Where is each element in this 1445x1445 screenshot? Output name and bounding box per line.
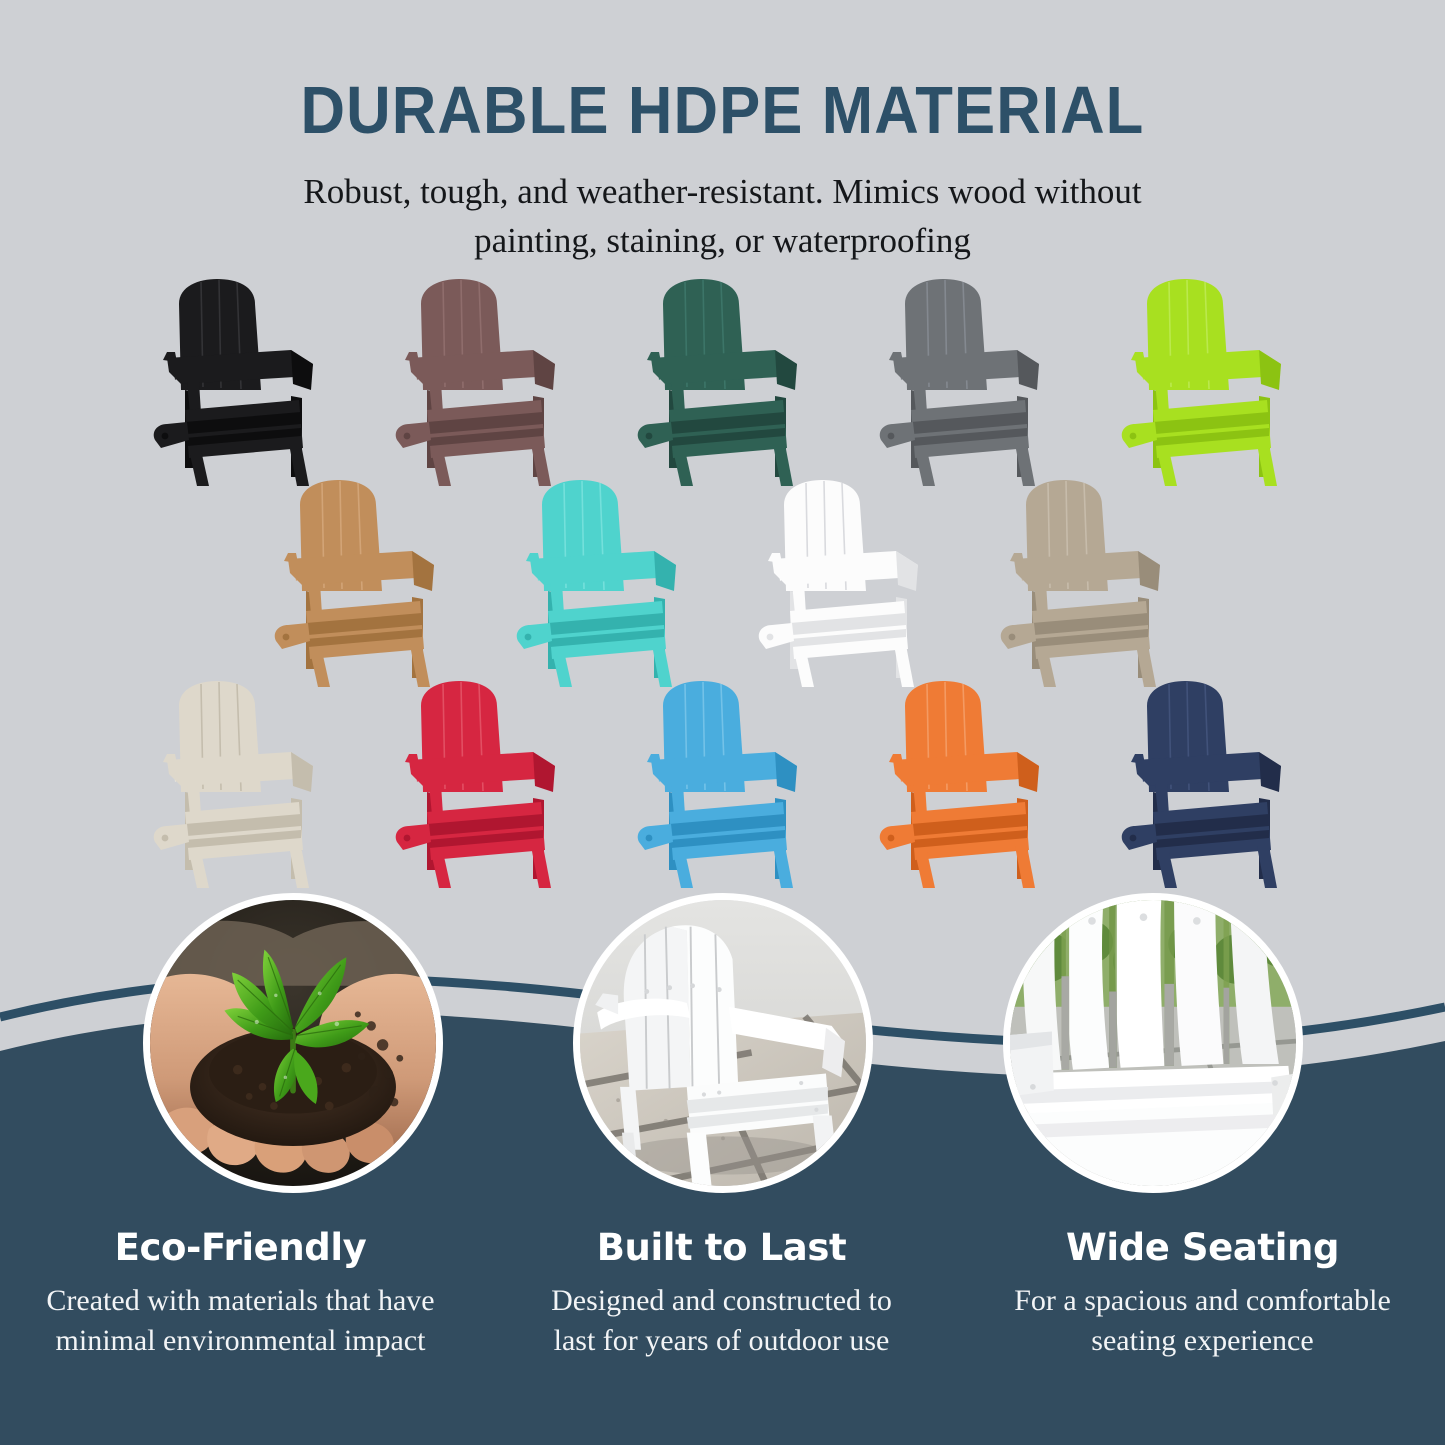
adirondack-chair-icon [141, 674, 337, 889]
feature-title: Eco-Friendly [8, 1228, 473, 1269]
feature-eco-friendly: Eco-Friendly Created with materials that… [0, 1228, 481, 1360]
chair-swatch-red[interactable] [383, 674, 579, 889]
chair-swatch-white[interactable] [746, 473, 942, 688]
chair-swatch-brown[interactable] [383, 272, 579, 487]
chair-swatch-weathered-wood[interactable] [988, 473, 1184, 688]
adirondack-chair-icon [988, 473, 1184, 688]
chair-row-1 [0, 272, 1445, 487]
chair-swatch-gray[interactable] [867, 272, 1063, 487]
feature-desc-line-1: For a spacious and comfortable [970, 1281, 1435, 1321]
chair-swatch-black[interactable] [141, 272, 337, 487]
feature-desc-line-2: minimal environmental impact [8, 1321, 473, 1361]
chair-swatch-dark-green[interactable] [625, 272, 821, 487]
feature-desc-line-1: Created with materials that have [8, 1281, 473, 1321]
chair-swatch-turquoise[interactable] [504, 473, 700, 688]
chair-row-2 [0, 473, 1445, 688]
white-chair-on-patio-photo [580, 900, 866, 1186]
feature-description: For a spacious and comfortable seating e… [970, 1281, 1435, 1361]
chair-row-3 [0, 674, 1445, 889]
feature-desc-line-2: last for years of outdoor use [489, 1321, 954, 1361]
feature-photo-eco-friendly [143, 893, 443, 1193]
hdpe-material-infographic: DURABLE HDPE MATERIAL Robust, tough, and… [0, 0, 1445, 1445]
feature-description: Designed and constructed to last for yea… [489, 1281, 954, 1361]
adirondack-chair-icon [383, 272, 579, 487]
feature-photo-built-to-last [573, 893, 873, 1193]
subtitle-line-2: painting, staining, or waterproofing [228, 217, 1218, 265]
adirondack-chair-icon [746, 473, 942, 688]
feature-desc-line-2: seating experience [970, 1321, 1435, 1361]
feature-captions: Eco-Friendly Created with materials that… [0, 1228, 1445, 1360]
chair-swatch-navy-blue[interactable] [1109, 674, 1305, 889]
adirondack-chair-icon [383, 674, 579, 889]
adirondack-chair-icon [141, 272, 337, 487]
chair-swatch-teak[interactable] [262, 473, 458, 688]
chair-color-grid [0, 272, 1445, 889]
adirondack-chair-icon [1109, 674, 1305, 889]
adirondack-chair-icon [504, 473, 700, 688]
hands-holding-seedling-photo [150, 900, 436, 1186]
header: DURABLE HDPE MATERIAL Robust, tough, and… [0, 0, 1445, 265]
chair-swatch-light-blue[interactable] [625, 674, 821, 889]
subtitle-line-1: Robust, tough, and weather-resistant. Mi… [228, 168, 1218, 216]
adirondack-chair-icon [867, 674, 1063, 889]
feature-desc-line-1: Designed and constructed to [489, 1281, 954, 1321]
wide-seat-closeup-photo [1010, 900, 1296, 1186]
feature-description: Created with materials that have minimal… [8, 1281, 473, 1361]
adirondack-chair-icon [262, 473, 458, 688]
adirondack-chair-icon [625, 674, 821, 889]
feature-photo-circles [0, 893, 1445, 1213]
page-subtitle: Robust, tough, and weather-resistant. Mi… [228, 146, 1218, 265]
feature-title: Built to Last [489, 1228, 954, 1269]
chair-swatch-lime-green[interactable] [1109, 272, 1305, 487]
feature-wide-seating: Wide Seating For a spacious and comforta… [962, 1228, 1443, 1360]
feature-title: Wide Seating [970, 1228, 1435, 1269]
page-title: DURABLE HDPE MATERIAL [58, 0, 1387, 146]
adirondack-chair-icon [1109, 272, 1305, 487]
chair-swatch-orange[interactable] [867, 674, 1063, 889]
feature-built-to-last: Built to Last Designed and constructed t… [481, 1228, 962, 1360]
chair-swatch-ivory[interactable] [141, 674, 337, 889]
adirondack-chair-icon [625, 272, 821, 487]
adirondack-chair-icon [867, 272, 1063, 487]
feature-photo-wide-seating [1003, 893, 1303, 1193]
